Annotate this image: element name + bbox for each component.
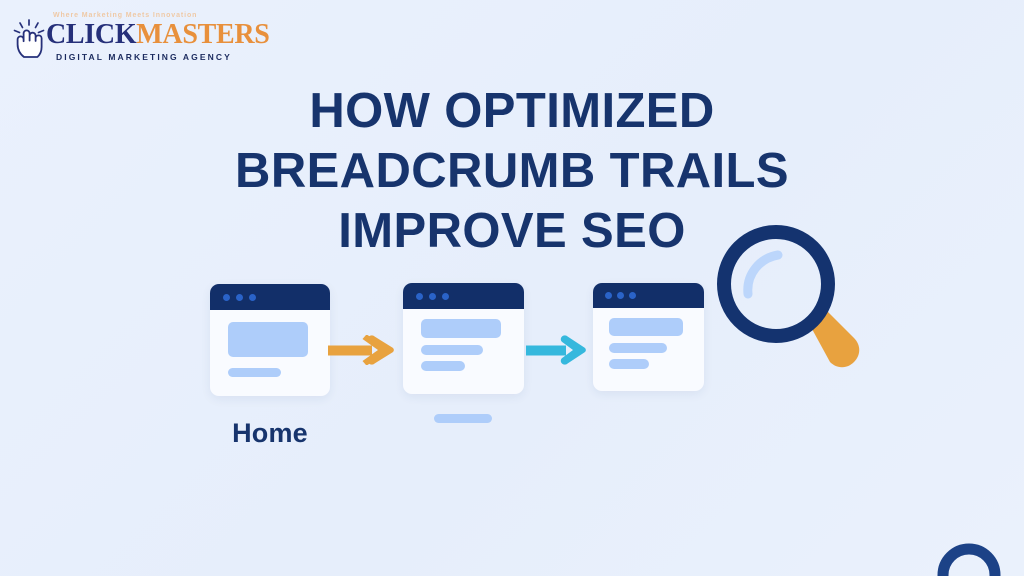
magnifying-glass-icon [714, 222, 870, 382]
browser-window-category [403, 283, 524, 394]
content-detached-bar [434, 414, 492, 423]
arrow-step-1-to-2 [328, 332, 396, 368]
window-dot-yellow [236, 294, 243, 301]
browser-window-product [593, 283, 704, 391]
content-text-line [421, 361, 465, 371]
window-dot-green [249, 294, 256, 301]
content-hero-block [421, 319, 501, 338]
breadcrumb-flow-diagram: Home [0, 0, 1024, 576]
window-dot-red [605, 292, 612, 299]
window-dot-yellow [429, 293, 436, 300]
content-hero-block [228, 322, 308, 357]
window-titlebar [403, 283, 524, 309]
window-dot-red [223, 294, 230, 301]
window-dot-green [629, 292, 636, 299]
window-titlebar [593, 283, 704, 308]
content-text-line [228, 368, 281, 377]
slide-canvas: Where Marketing Meets Innovation CLICKMA… [0, 0, 1024, 576]
magnifying-glass-icon [934, 540, 1004, 576]
step-label-home: Home [210, 418, 330, 449]
window-titlebar [210, 284, 330, 310]
content-text-line [421, 345, 483, 355]
browser-window-home [210, 284, 330, 396]
window-dot-yellow [617, 292, 624, 299]
content-text-line [609, 359, 649, 369]
window-dot-green [442, 293, 449, 300]
content-hero-block [609, 318, 683, 336]
arrow-step-2-to-3 [526, 332, 588, 368]
content-text-line [609, 343, 667, 353]
window-dot-red [416, 293, 423, 300]
